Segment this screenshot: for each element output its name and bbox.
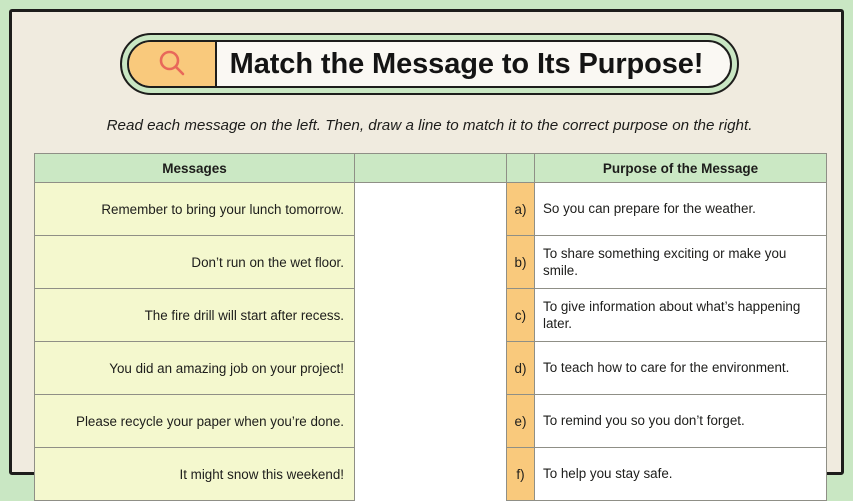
- page-title: Match the Message to Its Purpose!: [217, 48, 730, 81]
- purpose-letter-c[interactable]: c): [507, 289, 535, 342]
- table-header-row: Messages Purpose of the Message: [35, 154, 827, 183]
- title-banner: Match the Message to Its Purpose!: [120, 33, 739, 95]
- header-purpose: Purpose of the Message: [535, 154, 827, 183]
- message-cell-4[interactable]: You did an amazing job on your project!: [35, 342, 355, 395]
- worksheet-page: Match the Message to Its Purpose! Read e…: [9, 9, 844, 475]
- purpose-letter-a[interactable]: a): [507, 183, 535, 236]
- purpose-cell-f[interactable]: To help you stay safe.: [535, 448, 827, 501]
- purpose-cell-e[interactable]: To remind you so you don’t forget.: [535, 395, 827, 448]
- purpose-cell-b[interactable]: To share something exciting or make you …: [535, 236, 827, 289]
- purpose-letter-d[interactable]: d): [507, 342, 535, 395]
- magnifier-icon: [155, 47, 189, 81]
- message-cell-1[interactable]: Remember to bring your lunch tomorrow.: [35, 183, 355, 236]
- purpose-cell-a[interactable]: So you can prepare for the weather.: [535, 183, 827, 236]
- purpose-letter-b[interactable]: b): [507, 236, 535, 289]
- header-draw-area: [355, 154, 507, 183]
- message-cell-3[interactable]: The fire drill will start after recess.: [35, 289, 355, 342]
- title-banner-inner: Match the Message to Its Purpose!: [127, 40, 732, 88]
- instruction-text: Read each message on the left. Then, dra…: [32, 117, 827, 134]
- table-row: Remember to bring your lunch tomorrow. a…: [35, 183, 827, 236]
- message-cell-2[interactable]: Don’t run on the wet floor.: [35, 236, 355, 289]
- message-cell-5[interactable]: Please recycle your paper when you’re do…: [35, 395, 355, 448]
- title-icon-container: [129, 42, 217, 86]
- matching-table: Messages Purpose of the Message Remember…: [34, 153, 827, 501]
- draw-line-area[interactable]: [355, 183, 507, 501]
- header-letter: [507, 154, 535, 183]
- purpose-letter-f[interactable]: f): [507, 448, 535, 501]
- purpose-letter-e[interactable]: e): [507, 395, 535, 448]
- message-cell-6[interactable]: It might snow this weekend!: [35, 448, 355, 501]
- purpose-cell-d[interactable]: To teach how to care for the environment…: [535, 342, 827, 395]
- purpose-cell-c[interactable]: To give information about what’s happeni…: [535, 289, 827, 342]
- header-messages: Messages: [35, 154, 355, 183]
